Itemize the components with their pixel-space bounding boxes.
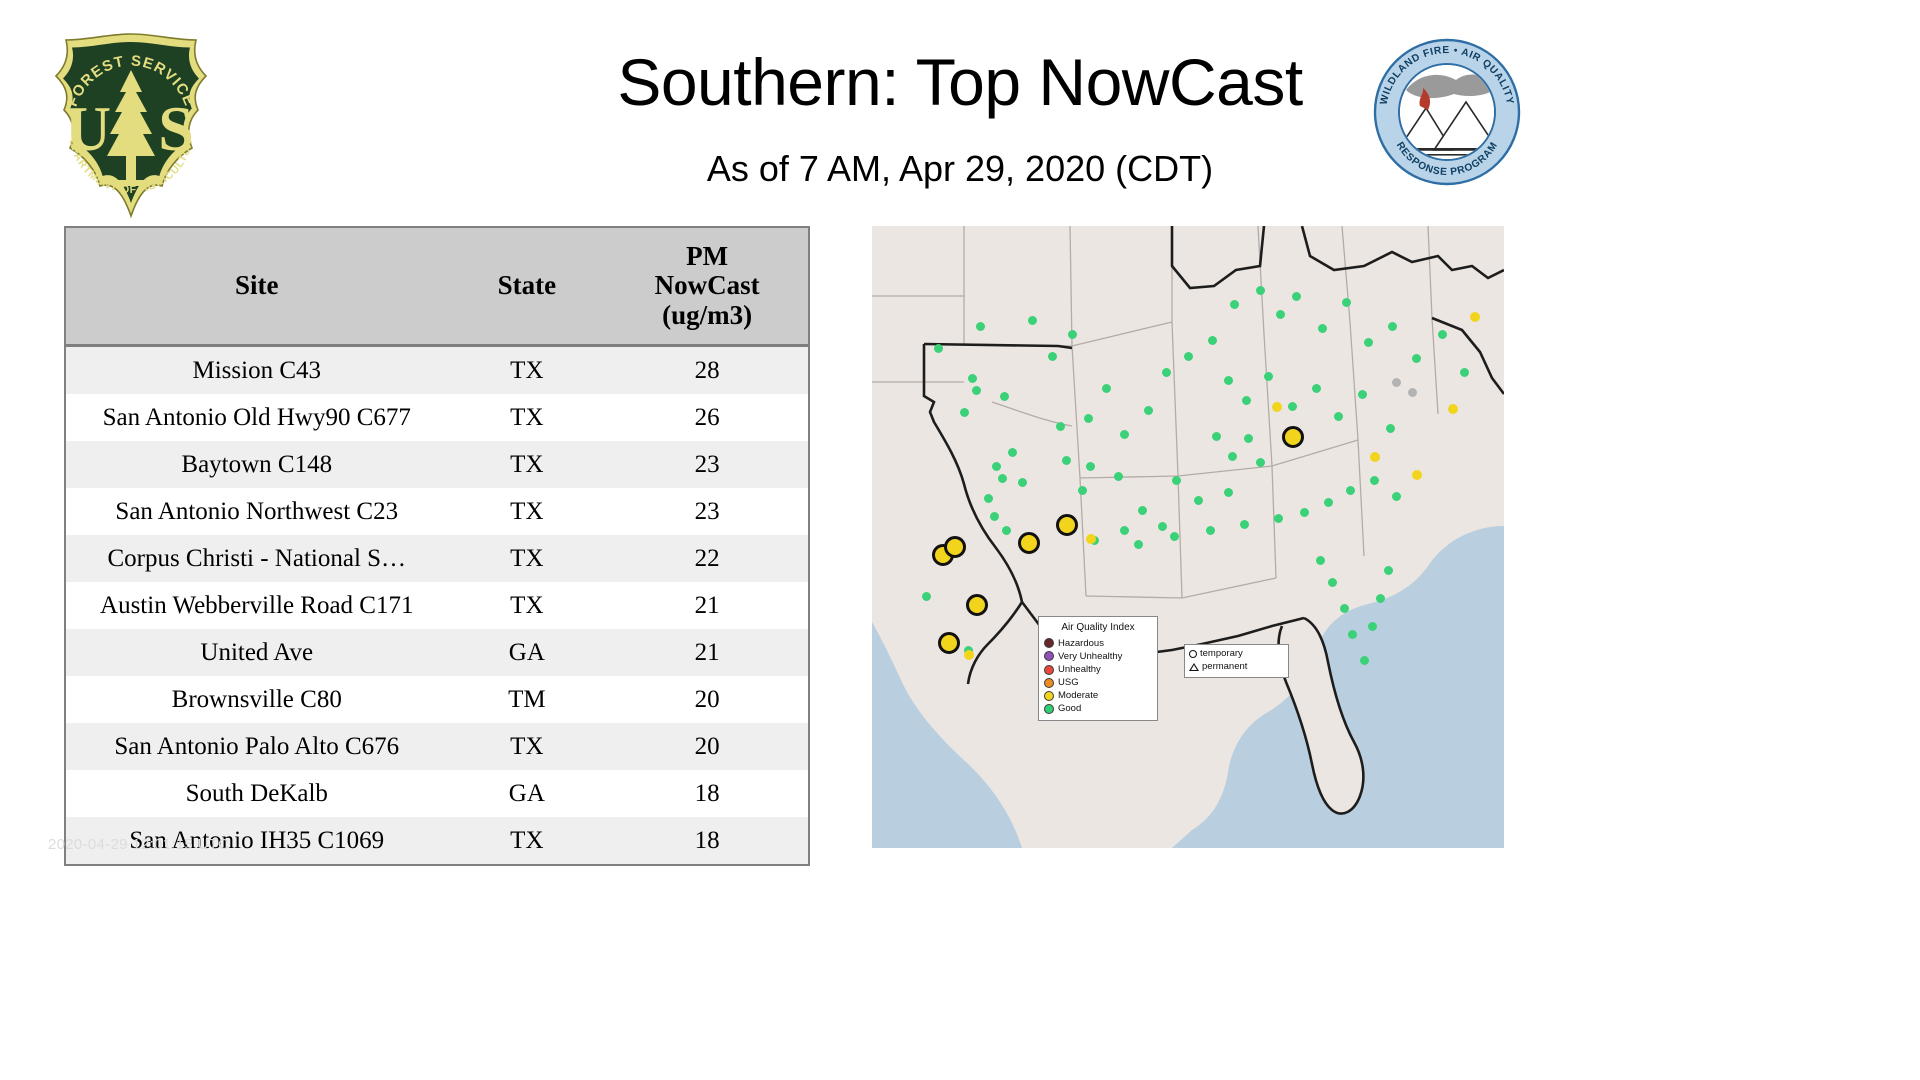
monitor-dot-good[interactable]	[1292, 292, 1301, 301]
column-header-pm-nowcast: PM NowCast (ug/m3)	[606, 228, 808, 346]
monitor-dot-good[interactable]	[922, 592, 931, 601]
aqi-legend-rows: HazardousVery UnhealthyUnhealthyUSGModer…	[1044, 637, 1152, 716]
aqi-color-swatch-icon	[1044, 704, 1054, 714]
top-site-marker[interactable]	[938, 632, 960, 654]
table-row[interactable]: United AveGA21	[66, 629, 808, 676]
table-cell-pm: 26	[606, 394, 808, 441]
table-cell-pm: 23	[606, 441, 808, 488]
monitor-dot-good[interactable]	[1324, 498, 1333, 507]
monitor-dot-good[interactable]	[1340, 604, 1349, 613]
aqi-legend-item: USG	[1044, 676, 1152, 689]
monitor-dot-good[interactable]	[1230, 300, 1239, 309]
aqi-legend-item: Very Unhealthy	[1044, 650, 1152, 663]
site-type-permanent-label: permanent	[1202, 661, 1247, 674]
circle-icon	[1189, 650, 1197, 658]
table-row[interactable]: Baytown C148TX23	[66, 441, 808, 488]
table-cell-state: TX	[448, 582, 607, 629]
monitor-dot-good[interactable]	[1342, 298, 1351, 307]
monitor-dot-good[interactable]	[1008, 448, 1017, 457]
site-type-legend: temporary permanent	[1184, 644, 1289, 678]
table-cell-pm: 20	[606, 723, 808, 770]
column-header-state: State	[448, 228, 607, 346]
monitor-dot-good[interactable]	[1388, 322, 1397, 331]
monitor-dot-good[interactable]	[992, 462, 1001, 471]
monitor-dot-good[interactable]	[998, 474, 1007, 483]
monitor-dot-good[interactable]	[1256, 286, 1265, 295]
monitor-dot-good[interactable]	[1316, 556, 1325, 565]
table-cell-state: TM	[448, 676, 607, 723]
monitor-dot-good[interactable]	[1000, 392, 1009, 401]
monitor-dot-good[interactable]	[1256, 458, 1265, 467]
aqi-color-swatch-icon	[1044, 665, 1054, 675]
table-row[interactable]: Brownsville C80TM20	[66, 676, 808, 723]
table-row[interactable]: San Antonio Palo Alto C676TX20	[66, 723, 808, 770]
monitor-dot-good[interactable]	[1212, 432, 1221, 441]
monitor-dot-good[interactable]	[1348, 630, 1357, 639]
aqi-color-swatch-icon	[1044, 678, 1054, 688]
monitor-dot-good[interactable]	[1002, 526, 1011, 535]
monitor-dot-good[interactable]	[1018, 478, 1027, 487]
table-cell-site: Corpus Christi - National S…	[66, 535, 448, 582]
monitor-dot-good[interactable]	[1328, 578, 1337, 587]
aqi-legend-item: Hazardous	[1044, 637, 1152, 650]
monitor-dot-good[interactable]	[1224, 488, 1233, 497]
top-site-marker[interactable]	[1282, 426, 1304, 448]
aqi-color-swatch-icon	[1044, 651, 1054, 661]
monitor-dot-good[interactable]	[934, 344, 943, 353]
monitor-dot-good[interactable]	[1240, 520, 1249, 529]
aqi-legend-label: Hazardous	[1058, 637, 1104, 650]
nowcast-table: Site State PM NowCast (ug/m3) Mission C4…	[66, 228, 808, 864]
site-type-temporary: temporary	[1189, 648, 1284, 661]
monitor-dot-good[interactable]	[1170, 532, 1179, 541]
aqi-legend-item: Moderate	[1044, 689, 1152, 702]
table-row[interactable]: Corpus Christi - National S…TX22	[66, 535, 808, 582]
table-cell-site: Baytown C148	[66, 441, 448, 488]
monitor-dot-moderate[interactable]	[964, 650, 974, 660]
table-cell-state: GA	[448, 629, 607, 676]
map-landmass	[872, 226, 1504, 848]
page-title: Southern: Top NowCast	[0, 44, 1920, 120]
aqi-legend: Air Quality Index HazardousVery Unhealth…	[1038, 616, 1158, 721]
monitor-dot-no-data[interactable]	[1408, 388, 1417, 397]
table-row[interactable]: South DeKalbGA18	[66, 770, 808, 817]
monitor-dot-no-data[interactable]	[1392, 378, 1401, 387]
monitor-dot-good[interactable]	[1120, 526, 1129, 535]
monitor-dot-good[interactable]	[1334, 412, 1343, 421]
monitor-dot-good[interactable]	[1346, 486, 1355, 495]
monitor-dot-moderate[interactable]	[1448, 404, 1458, 414]
aqi-legend-title: Air Quality Index	[1044, 621, 1152, 635]
table-cell-state: TX	[448, 723, 607, 770]
table-cell-state: TX	[448, 488, 607, 535]
table-cell-site: San Antonio Old Hwy90 C677	[66, 394, 448, 441]
monitor-dot-good[interactable]	[1364, 338, 1373, 347]
monitor-dot-good[interactable]	[972, 386, 981, 395]
table-cell-state: TX	[448, 535, 607, 582]
table-cell-site: United Ave	[66, 629, 448, 676]
table-cell-site: San Antonio Palo Alto C676	[66, 723, 448, 770]
monitor-dot-good[interactable]	[1208, 336, 1217, 345]
monitor-dot-good[interactable]	[1376, 594, 1385, 603]
monitor-dot-good[interactable]	[1358, 390, 1367, 399]
table-header-row: Site State PM NowCast (ug/m3)	[66, 228, 808, 346]
monitor-dot-good[interactable]	[1048, 352, 1057, 361]
pm-header-line2: NowCast	[610, 271, 804, 300]
monitor-dot-good[interactable]	[1264, 372, 1273, 381]
monitor-dot-good[interactable]	[1144, 406, 1153, 415]
monitor-dot-good[interactable]	[976, 322, 985, 331]
monitor-dot-good[interactable]	[1460, 368, 1469, 377]
monitor-dot-good[interactable]	[1158, 522, 1167, 531]
monitor-dot-good[interactable]	[1438, 330, 1447, 339]
top-site-marker[interactable]	[944, 536, 966, 558]
monitor-dot-good[interactable]	[1120, 430, 1129, 439]
monitor-dot-good[interactable]	[1172, 476, 1181, 485]
table-head: Site State PM NowCast (ug/m3)	[66, 228, 808, 346]
pm-header-line3: (ug/m3)	[610, 301, 804, 330]
monitor-dot-good[interactable]	[968, 374, 977, 383]
monitor-dot-good[interactable]	[984, 494, 993, 503]
table-cell-pm: 18	[606, 770, 808, 817]
monitor-dot-good[interactable]	[1242, 396, 1251, 405]
monitor-dot-good[interactable]	[1274, 514, 1283, 523]
table-cell-site: San Antonio Northwest C23	[66, 488, 448, 535]
monitor-dot-good[interactable]	[1028, 316, 1037, 325]
monitor-dot-good[interactable]	[1114, 472, 1123, 481]
monitor-dot-good[interactable]	[1134, 540, 1143, 549]
monitor-dot-good[interactable]	[1384, 566, 1393, 575]
monitor-dot-good[interactable]	[1068, 330, 1077, 339]
monitor-dot-good[interactable]	[1312, 384, 1321, 393]
table-row[interactable]: San Antonio Old Hwy90 C677TX26	[66, 394, 808, 441]
monitor-dot-moderate[interactable]	[1412, 470, 1422, 480]
table-cell-state: TX	[448, 346, 607, 395]
monitor-dot-good[interactable]	[1386, 424, 1395, 433]
monitor-dot-good[interactable]	[1194, 496, 1203, 505]
table-cell-site: Brownsville C80	[66, 676, 448, 723]
monitor-dot-good[interactable]	[960, 408, 969, 417]
aqi-legend-label: Very Unhealthy	[1058, 650, 1122, 663]
triangle-icon	[1189, 663, 1199, 671]
monitor-dot-good[interactable]	[1102, 384, 1111, 393]
monitor-dot-moderate[interactable]	[1272, 402, 1282, 412]
table-body: Mission C43TX28San Antonio Old Hwy90 C67…	[66, 346, 808, 865]
site-type-permanent: permanent	[1189, 661, 1284, 674]
nowcast-table-container: Site State PM NowCast (ug/m3) Mission C4…	[64, 226, 810, 866]
aqi-legend-label: USG	[1058, 676, 1079, 689]
monitor-dot-good[interactable]	[1206, 526, 1215, 535]
monitor-dot-moderate[interactable]	[1470, 312, 1480, 322]
monitor-dot-good[interactable]	[1360, 656, 1369, 665]
monitor-dot-good[interactable]	[1368, 622, 1377, 631]
table-cell-pm: 23	[606, 488, 808, 535]
page-subtitle: As of 7 AM, Apr 29, 2020 (CDT)	[0, 148, 1920, 190]
top-site-marker[interactable]	[1056, 514, 1078, 536]
aqi-legend-label: Unhealthy	[1058, 663, 1101, 676]
table-cell-state: GA	[448, 770, 607, 817]
monitor-dot-good[interactable]	[1412, 354, 1421, 363]
table-cell-site: Austin Webberville Road C171	[66, 582, 448, 629]
monitor-dot-good[interactable]	[1056, 422, 1065, 431]
table-row[interactable]: Austin Webberville Road C171TX21	[66, 582, 808, 629]
table-cell-pm: 28	[606, 346, 808, 395]
monitor-dot-good[interactable]	[1228, 452, 1237, 461]
aqi-legend-item: Good	[1044, 702, 1152, 715]
monitor-dot-good[interactable]	[1392, 492, 1401, 501]
monitor-dot-moderate[interactable]	[1370, 452, 1380, 462]
monitor-dot-good[interactable]	[1244, 434, 1253, 443]
monitor-dot-good[interactable]	[1370, 476, 1379, 485]
top-site-marker[interactable]	[1018, 532, 1040, 554]
table-cell-site: South DeKalb	[66, 770, 448, 817]
table-cell-pm: 21	[606, 582, 808, 629]
monitor-dot-good[interactable]	[1138, 506, 1147, 515]
monitor-dot-good[interactable]	[1318, 324, 1327, 333]
monitor-dot-good[interactable]	[1062, 456, 1071, 465]
monitor-dot-good[interactable]	[990, 512, 999, 521]
table-cell-state: TX	[448, 441, 607, 488]
monitor-dot-moderate[interactable]	[1086, 534, 1096, 544]
monitor-dot-good[interactable]	[1162, 368, 1171, 377]
table-row[interactable]: San Antonio Northwest C23TX23	[66, 488, 808, 535]
table-cell-pm: 22	[606, 535, 808, 582]
monitor-dot-good[interactable]	[1184, 352, 1193, 361]
table-row[interactable]: Mission C43TX28	[66, 346, 808, 395]
pm-header-line1: PM	[610, 242, 804, 271]
aqi-legend-item: Unhealthy	[1044, 663, 1152, 676]
table-cell-state: TX	[448, 817, 607, 864]
table-cell-state: TX	[448, 394, 607, 441]
aqi-legend-label: Good	[1058, 702, 1081, 715]
air-quality-map[interactable]: Air Quality Index HazardousVery Unhealth…	[872, 226, 1504, 848]
monitor-dot-good[interactable]	[1086, 462, 1095, 471]
monitor-dot-good[interactable]	[1078, 486, 1087, 495]
aqi-color-swatch-icon	[1044, 638, 1054, 648]
monitor-dot-good[interactable]	[1288, 402, 1297, 411]
site-type-temporary-label: temporary	[1200, 648, 1243, 661]
monitor-dot-good[interactable]	[1224, 376, 1233, 385]
table-cell-pm: 18	[606, 817, 808, 864]
table-cell-site: Mission C43	[66, 346, 448, 395]
faded-footer-text: 2020-04-29 12:01:15 UTC	[48, 836, 229, 853]
monitor-dot-good[interactable]	[1084, 414, 1093, 423]
table-cell-pm: 21	[606, 629, 808, 676]
monitor-dot-good[interactable]	[1276, 310, 1285, 319]
top-site-marker[interactable]	[966, 594, 988, 616]
table-cell-pm: 20	[606, 676, 808, 723]
column-header-site: Site	[66, 228, 448, 346]
monitor-dot-good[interactable]	[1300, 508, 1309, 517]
aqi-legend-label: Moderate	[1058, 689, 1098, 702]
aqi-color-swatch-icon	[1044, 691, 1054, 701]
